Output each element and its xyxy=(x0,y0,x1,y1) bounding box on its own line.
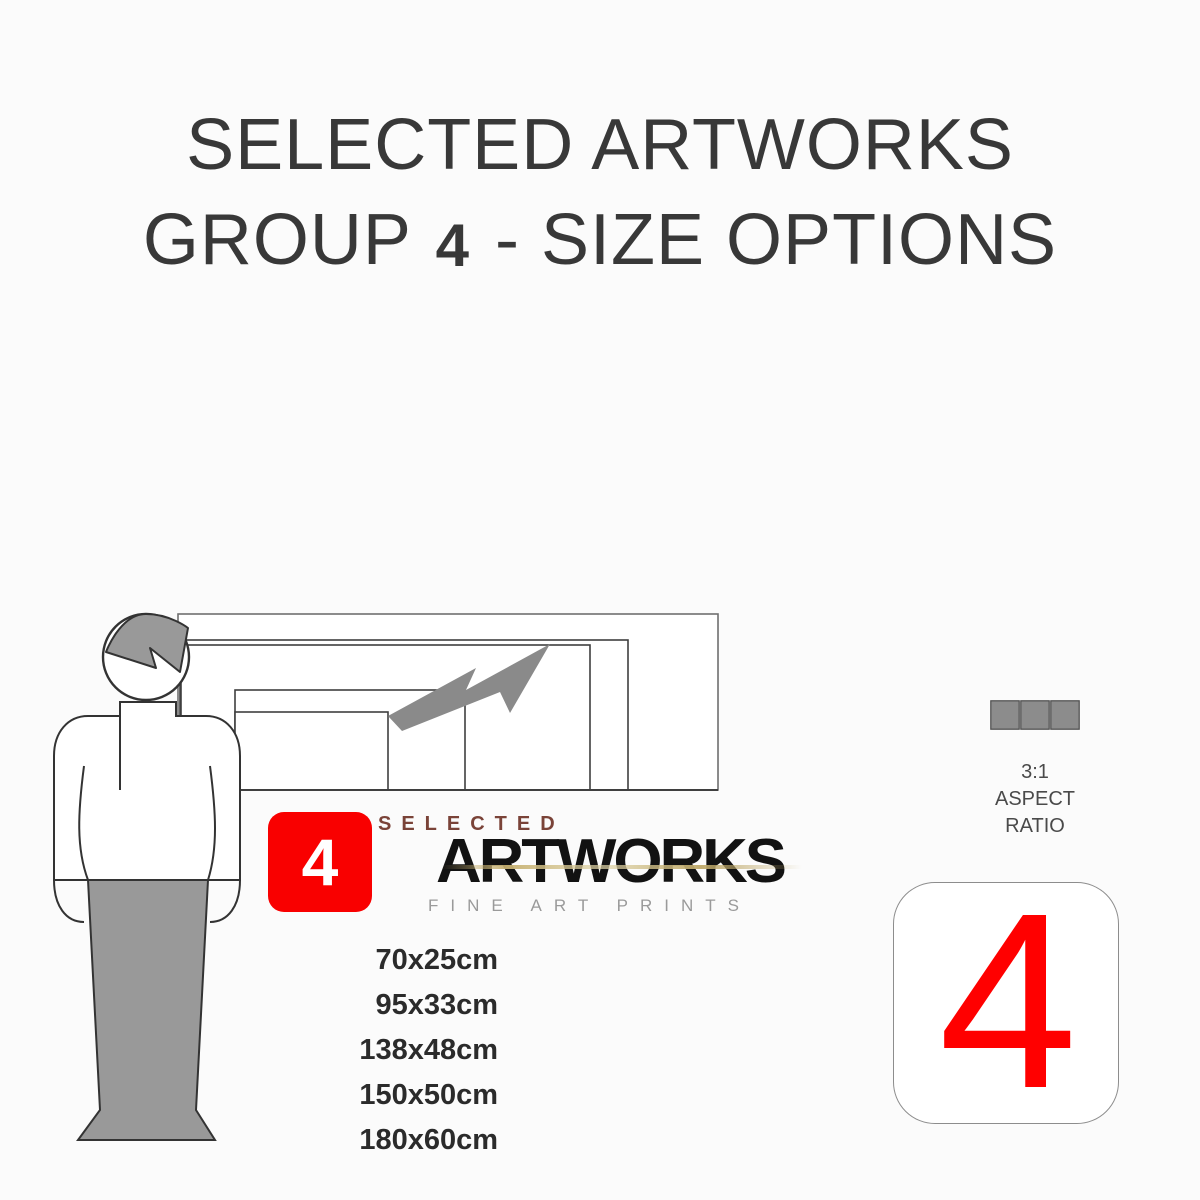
title-size-options: - SIZE OPTIONS xyxy=(495,200,1057,280)
group-badge: 4 xyxy=(268,812,372,912)
size-option: 95x33cm xyxy=(268,983,498,1028)
logo-gold-streak-decoration xyxy=(442,865,802,869)
size-option: 138x48cm xyxy=(268,1028,498,1073)
page-title: SELECTED ARTWORKS GROUP 4 - SIZE OPTIONS xyxy=(0,98,1200,288)
size-option: 70x25cm xyxy=(268,938,498,983)
title-line-1: SELECTED ARTWORKS xyxy=(0,98,1200,193)
person-arm-left xyxy=(79,766,88,880)
person-hand-right xyxy=(210,880,240,922)
person-head xyxy=(103,614,189,700)
person-legs xyxy=(78,880,215,1140)
aspect-ratio-value: 3:1 xyxy=(930,759,1140,786)
aspect-ratio-label-2: RATIO xyxy=(930,813,1140,840)
frame-95x33 xyxy=(235,690,465,790)
poster-canvas: SELECTED ARTWORKS GROUP 4 - SIZE OPTIONS xyxy=(0,0,1200,1200)
brand-logo: 4 SELECTED ARTWORKS FINE ART PRINTS xyxy=(268,812,828,922)
title-group-word: GROUP xyxy=(143,200,411,280)
size-increase-arrow xyxy=(388,644,550,731)
aspect-ratio-label-1: ASPECT xyxy=(930,786,1140,813)
title-group-number: 4 xyxy=(432,212,474,279)
logo-wordmark: SELECTED ARTWORKS FINE ART PRINTS xyxy=(376,812,828,922)
aspect-ratio-panel: 3:1 ASPECT RATIO xyxy=(930,700,1140,840)
person-hair xyxy=(106,614,188,672)
title-line-2: GROUP 4 - SIZE OPTIONS xyxy=(0,193,1200,288)
group-number-value: 4 xyxy=(894,882,1119,1124)
logo-artworks-text: ARTWORKS xyxy=(436,826,784,897)
frame-150x50 xyxy=(180,640,628,790)
size-option: 150x50cm xyxy=(268,1073,498,1118)
person-arm-right xyxy=(208,766,215,880)
logo-tagline: FINE ART PRINTS xyxy=(428,896,751,916)
frame-180x60 xyxy=(178,614,718,790)
three-square-ratio-icon xyxy=(990,700,1080,730)
frame-138x48 xyxy=(181,645,590,790)
group-number-card: 4 xyxy=(893,882,1119,1124)
frame-70x25 xyxy=(235,712,388,790)
person-hand-left xyxy=(54,880,84,922)
size-option: 180x60cm xyxy=(268,1118,498,1163)
person-torso xyxy=(54,702,240,880)
size-options-list: 70x25cm 95x33cm 138x48cm 150x50cm 180x60… xyxy=(268,938,498,1163)
scale-reference-person xyxy=(54,614,240,1140)
